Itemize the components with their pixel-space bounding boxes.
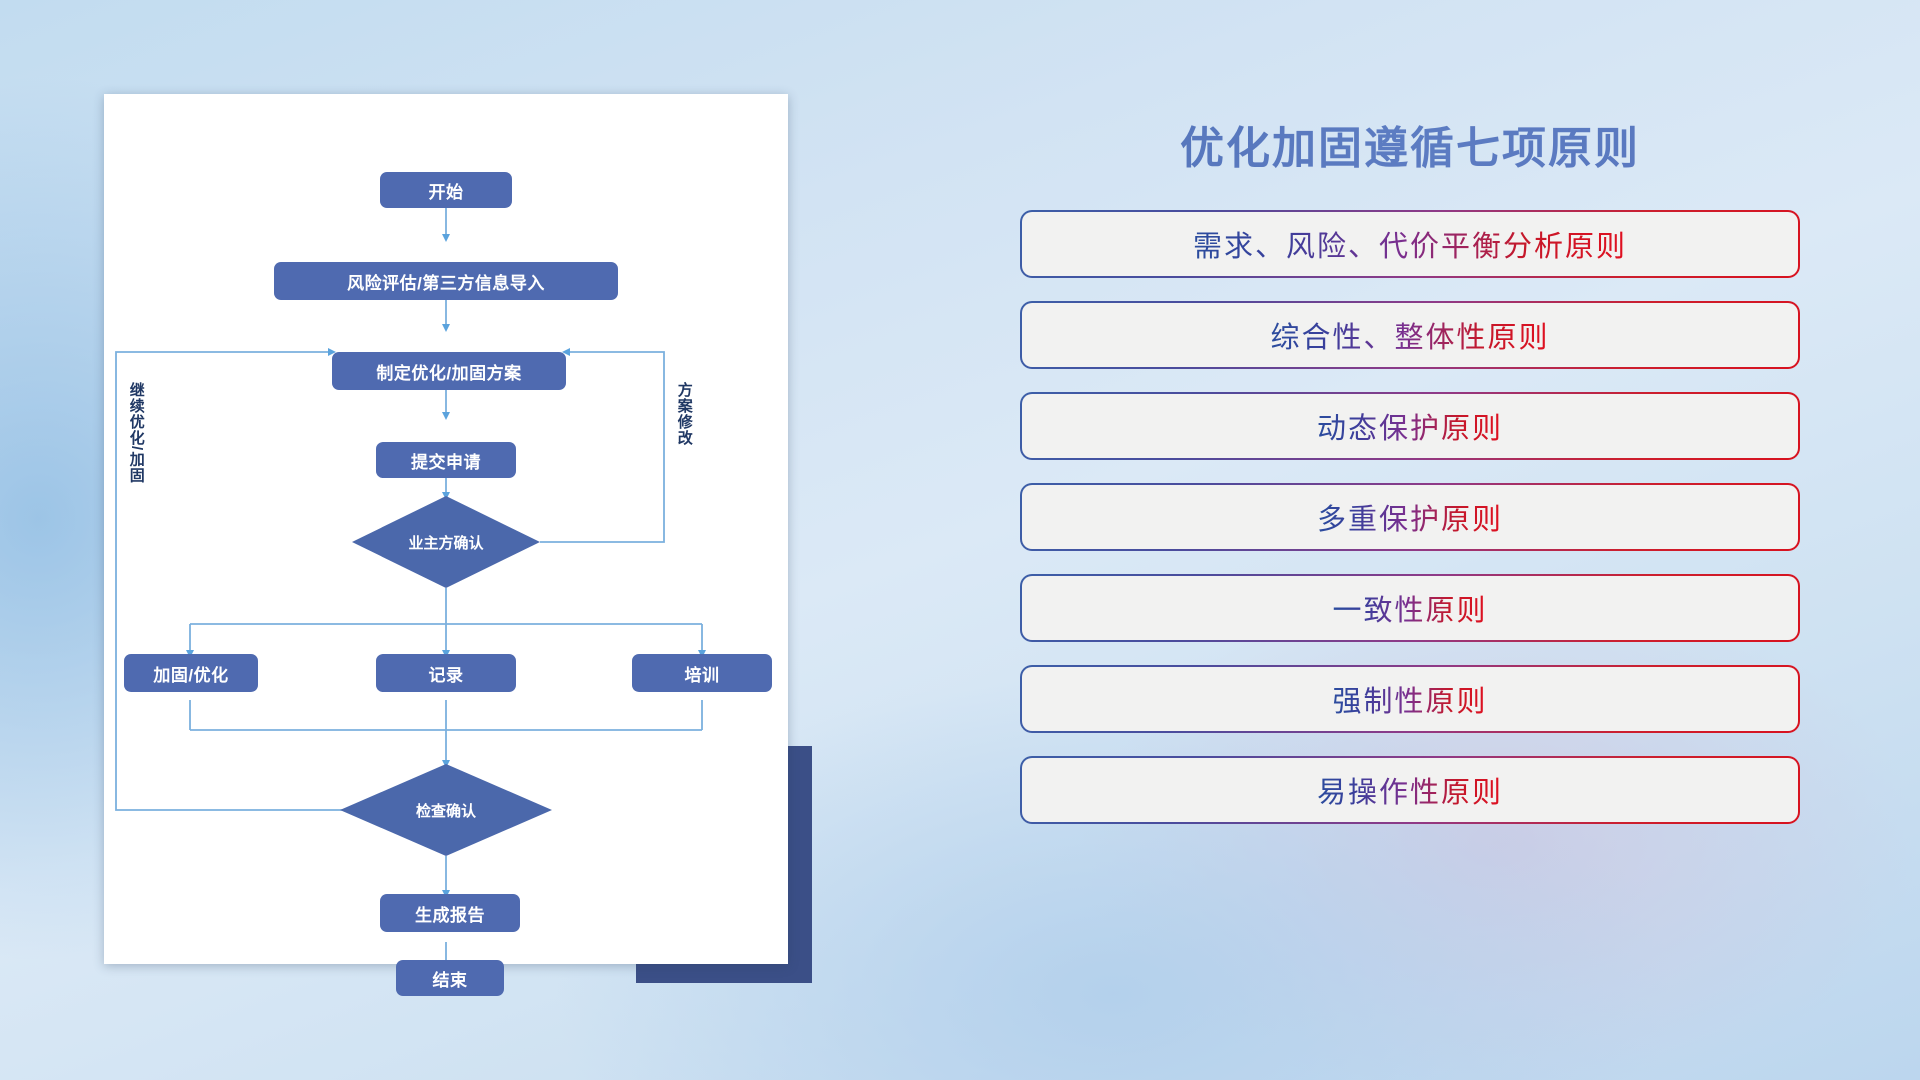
flow-node-end[interactable]: 结束 (396, 960, 504, 996)
flow-node-reinforce[interactable]: 加固/优化 (124, 654, 258, 692)
principles-panel: 优化加固遵循七项原则 需求、风险、代价平衡分析原则 综合性、整体性原则 动态保护… (1000, 100, 1820, 1000)
principle-inner: 强制性原则 (1022, 667, 1798, 731)
principle-inner: 综合性、整体性原则 (1022, 303, 1798, 367)
principle-item-5[interactable]: 一致性原则 (1020, 574, 1800, 642)
principle-inner: 多重保护原则 (1022, 485, 1798, 549)
edge-label-plan-revision: 方案修改 (676, 382, 692, 446)
principle-label: 综合性、整体性原则 (1270, 314, 1549, 356)
flow-node-submit[interactable]: 提交申请 (376, 442, 516, 478)
principle-inner: 需求、风险、代价平衡分析原则 (1022, 212, 1798, 276)
principle-inner: 动态保护原则 (1022, 394, 1798, 458)
edge-label-continue-optimize: 继续优化/加固 (128, 382, 144, 483)
principle-item-7[interactable]: 易操作性原则 (1020, 756, 1800, 824)
flow-node-risk-assessment[interactable]: 风险评估/第三方信息导入 (274, 262, 618, 300)
principle-item-3[interactable]: 动态保护原则 (1020, 392, 1800, 460)
flow-node-plan[interactable]: 制定优化/加固方案 (332, 352, 566, 390)
principle-inner: 易操作性原则 (1022, 758, 1798, 822)
panel-title: 优化加固遵循七项原则 (1000, 112, 1820, 176)
panel-title-text: 优化加固遵循七项原则 (1180, 124, 1640, 173)
flow-node-label: 结束 (433, 966, 468, 991)
principle-inner: 一致性原则 (1022, 576, 1798, 640)
principle-item-6[interactable]: 强制性原则 (1020, 665, 1800, 733)
flow-node-label: 提交申请 (411, 448, 481, 473)
slide-canvas: 开始 风险评估/第三方信息导入 制定优化/加固方案 提交申请 业主方确认 加固/… (0, 0, 1920, 1080)
flow-node-record[interactable]: 记录 (376, 654, 516, 692)
principle-label: 一致性原则 (1332, 587, 1487, 629)
flowchart-card: 开始 风险评估/第三方信息导入 制定优化/加固方案 提交申请 业主方确认 加固/… (104, 94, 788, 964)
flow-node-label: 风险评估/第三方信息导入 (347, 269, 545, 294)
flow-node-label: 制定优化/加固方案 (376, 359, 521, 384)
principle-label: 多重保护原则 (1317, 496, 1503, 538)
principle-label: 需求、风险、代价平衡分析原则 (1193, 223, 1627, 265)
flow-node-label: 开始 (429, 178, 464, 203)
principle-item-4[interactable]: 多重保护原则 (1020, 483, 1800, 551)
flow-node-training[interactable]: 培训 (632, 654, 772, 692)
flow-node-label: 培训 (685, 661, 720, 686)
principle-label: 易操作性原则 (1317, 769, 1503, 811)
flow-node-label: 记录 (429, 661, 464, 686)
flow-node-start[interactable]: 开始 (380, 172, 512, 208)
principle-item-1[interactable]: 需求、风险、代价平衡分析原则 (1020, 210, 1800, 278)
flow-node-label: 生成报告 (415, 901, 485, 926)
principle-label: 强制性原则 (1332, 678, 1487, 720)
principle-item-2[interactable]: 综合性、整体性原则 (1020, 301, 1800, 369)
principle-label: 动态保护原则 (1317, 405, 1503, 447)
flow-node-generate-report[interactable]: 生成报告 (380, 894, 520, 932)
flow-node-label: 加固/优化 (153, 661, 228, 686)
flowchart-connectors (104, 94, 788, 964)
